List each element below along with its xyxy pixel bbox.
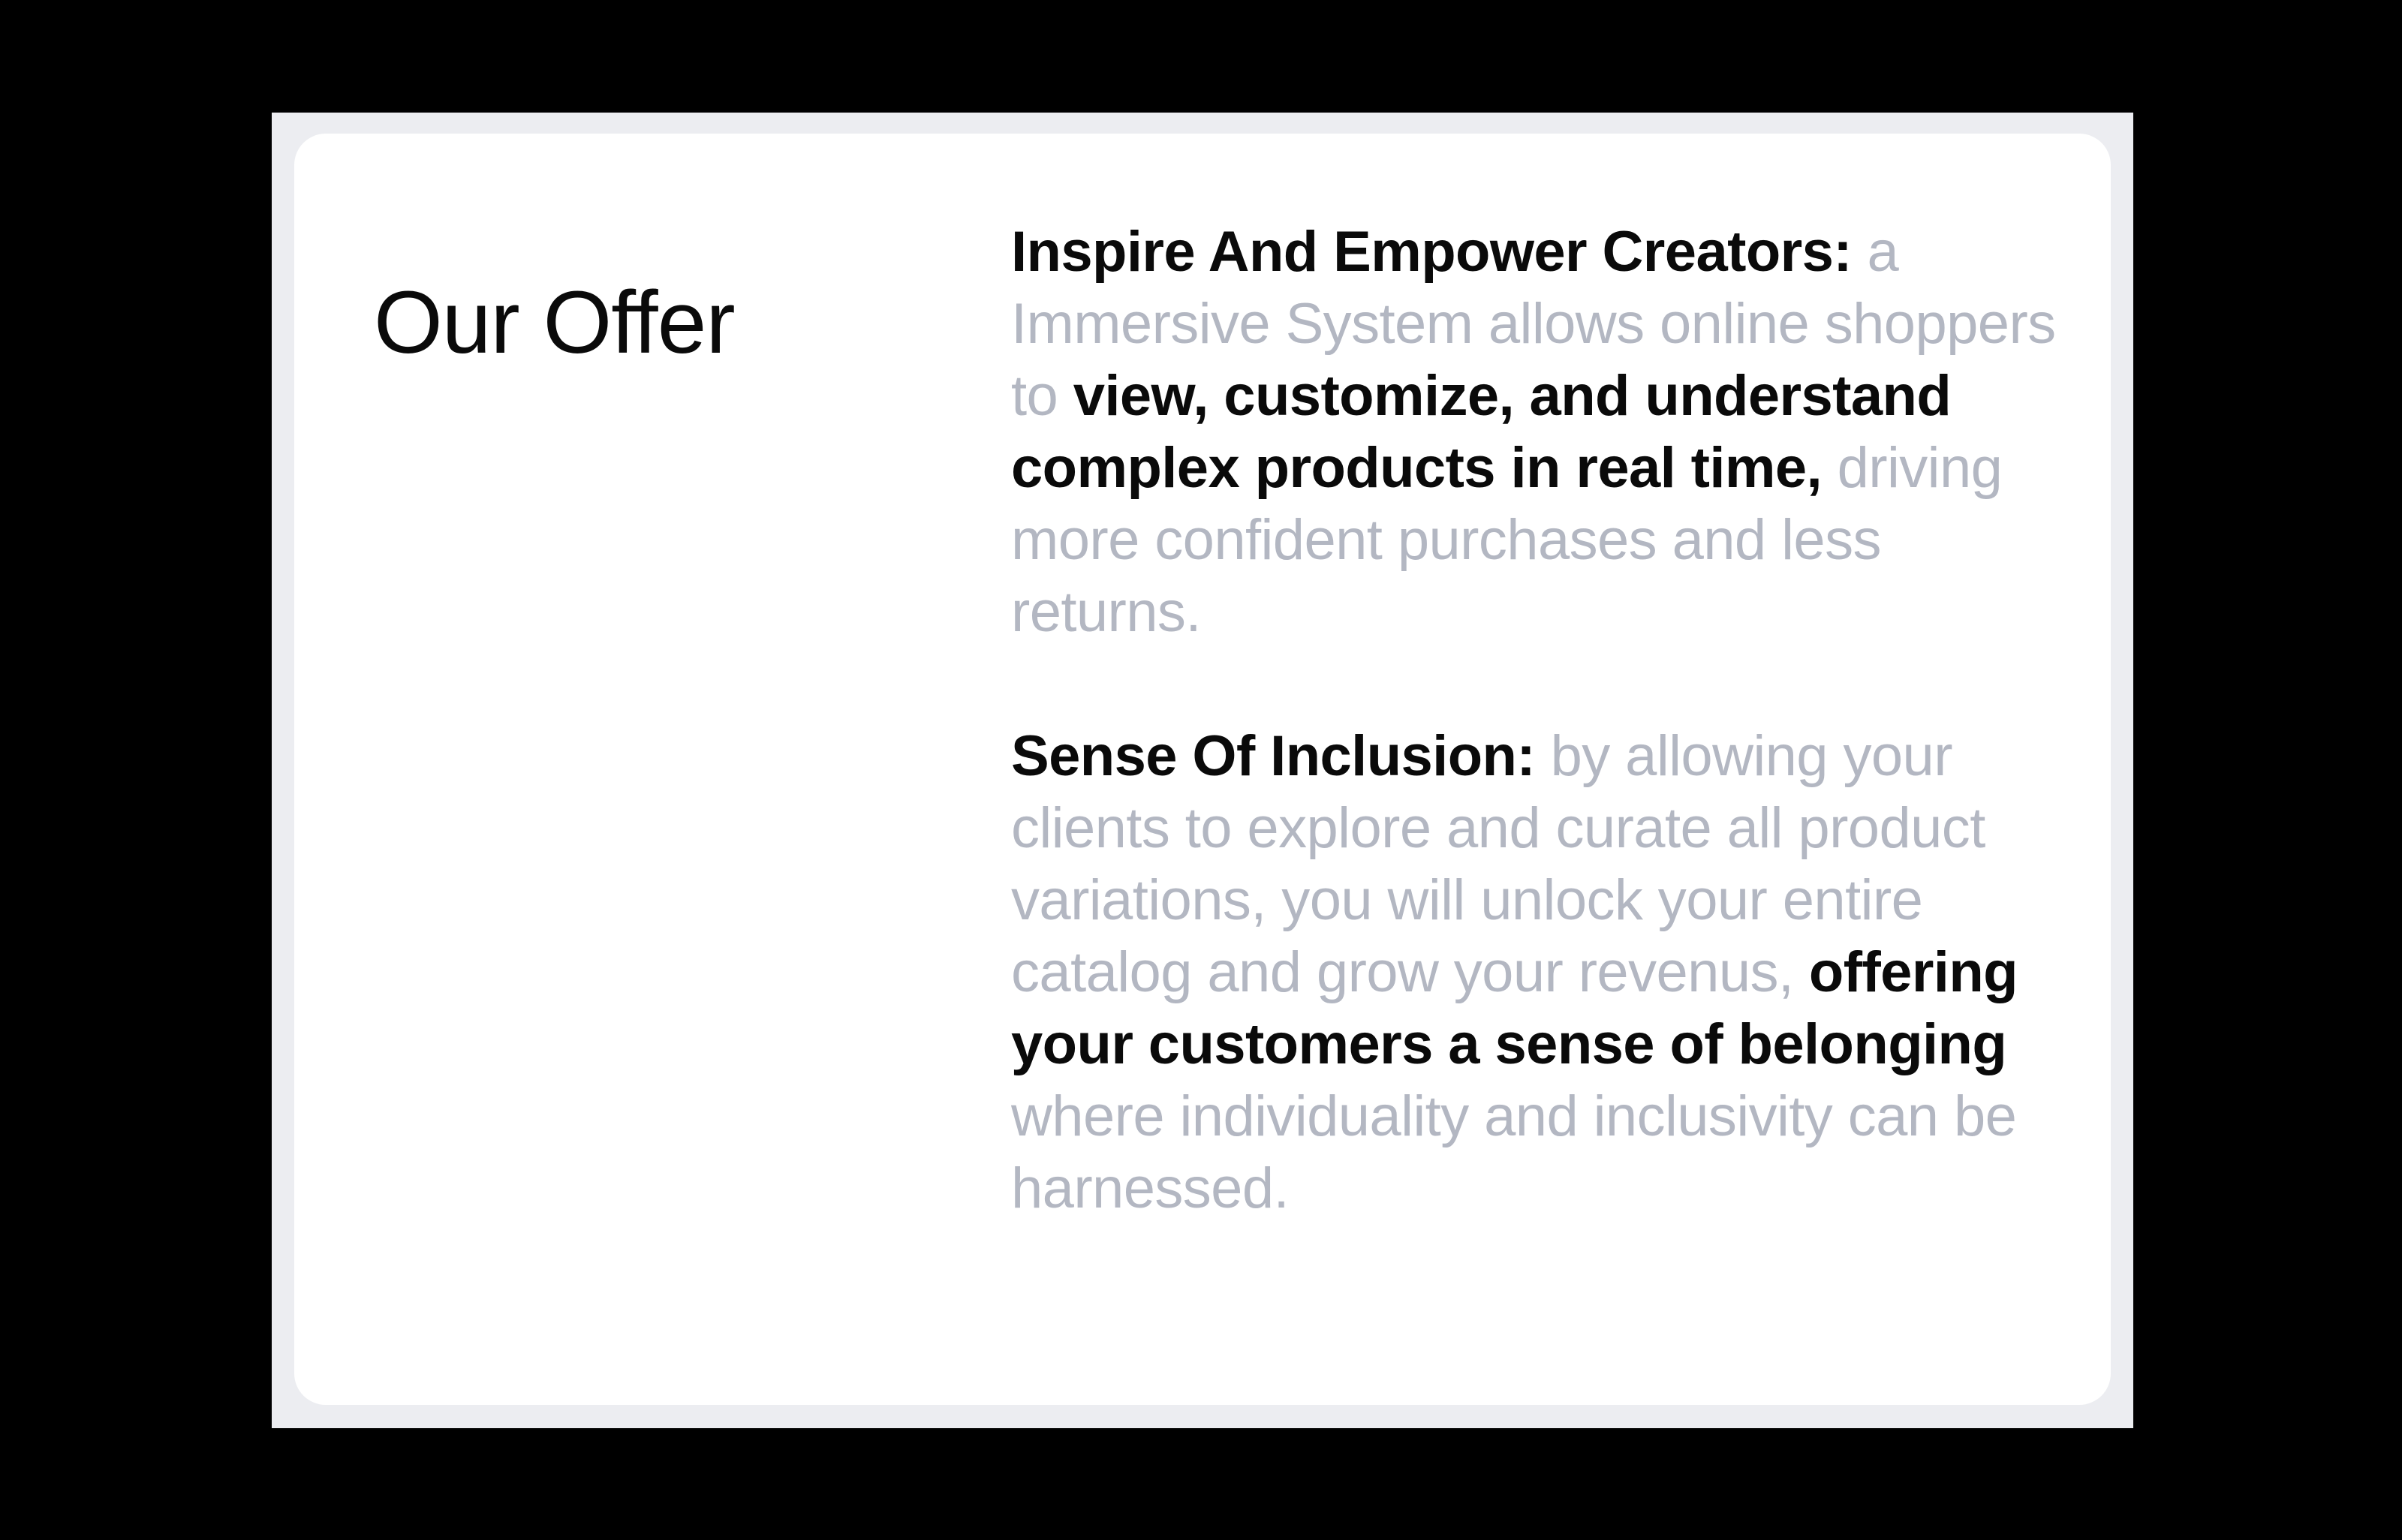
- outer-panel: Our Offer Inspire And Empower Creators: …: [272, 113, 2133, 1428]
- paragraph-segment: view, customize, and understand complex …: [1011, 364, 1951, 500]
- page-title: Our Offer: [374, 278, 735, 367]
- content-card: Our Offer Inspire And Empower Creators: …: [294, 134, 2111, 1405]
- body-text-column: Inspire And Empower Creators: a Immersiv…: [1011, 216, 2066, 1225]
- paragraph-inspire-and-empower-creators: Inspire And Empower Creators: a Immersiv…: [1011, 216, 2066, 648]
- paragraph-segment: where individuality and inclusivity can …: [1011, 1084, 2016, 1220]
- paragraph-segment: Sense Of Inclusion:: [1011, 724, 1535, 788]
- paragraph-sense-of-inclusion: Sense Of Inclusion: by allowing your cli…: [1011, 720, 2066, 1225]
- paragraph-segment: Inspire And Empower Creators:: [1011, 220, 1852, 284]
